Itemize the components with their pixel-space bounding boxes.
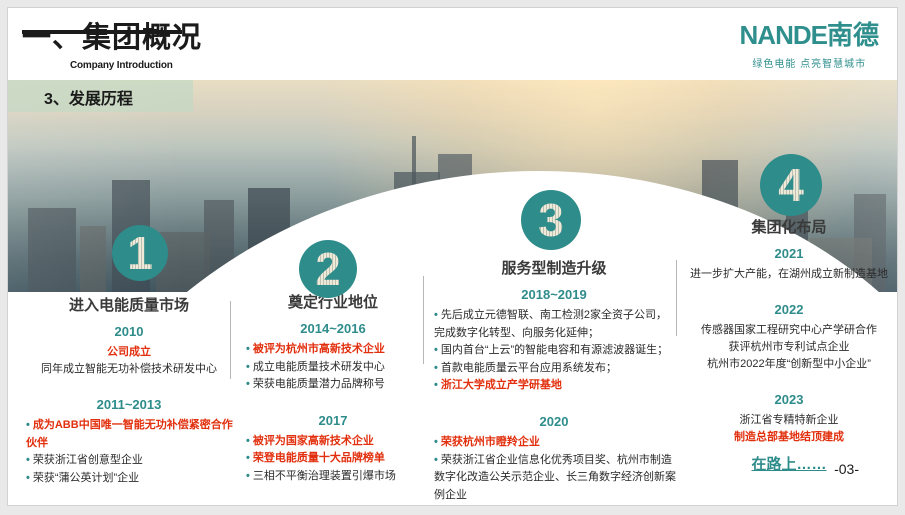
bullet-dot: • <box>434 309 438 321</box>
bullet-item: •荣获杭州市瞪羚企业 <box>432 434 676 452</box>
bullet-dot: • <box>246 361 250 373</box>
column-divider-1 <box>230 301 231 379</box>
bullet-item: •荣登电能质量十大品牌榜单 <box>244 450 422 468</box>
year-label: 2021 <box>684 246 894 261</box>
slide-header: 一、集团概况 Company Introduction NANDE南德 绿色电能… <box>8 8 897 80</box>
column-footer: 在路上…… <box>684 453 894 474</box>
year-label: 2014~2016 <box>244 321 422 336</box>
year-label: 2011~2013 <box>24 397 234 412</box>
text-line: 浙江省专精特新企业 <box>684 412 894 429</box>
timeline-badge-1: 1 <box>112 225 168 281</box>
bullet-dot: • <box>246 378 250 390</box>
badge-number: 4 <box>778 162 804 208</box>
bullet-item: •荣获浙江省创意型企业 <box>24 452 234 470</box>
bullet-dot: • <box>434 454 438 466</box>
block-spacer <box>684 373 894 384</box>
bullet-item: •被评为国家高新技术企业 <box>244 433 422 451</box>
logo-latin: NANDE <box>740 20 827 50</box>
bullet-item: •被评为杭州市高新技术企业 <box>244 341 422 359</box>
bullet-dot: • <box>246 470 250 482</box>
block-spacer <box>244 394 422 405</box>
timeline-column-3: 服务型制造升级2018~2019•先后成立元德智联、南工检测2家全资子公司，完成… <box>432 257 676 504</box>
year-label: 2023 <box>684 392 894 407</box>
timeline-badge-4: 4 <box>760 154 822 216</box>
bullet-dot: • <box>434 362 438 374</box>
bullet-dot: • <box>26 419 30 431</box>
text-line: 获评杭州市专利试点企业 <box>684 339 894 356</box>
bullet-item: •国内首台“上云”的智能电容和有源滤波器诞生； <box>432 342 676 360</box>
bullet-item: •浙江大学成立产学研基地 <box>432 377 676 395</box>
bullet-item: •成为ABB中国唯一智能无功补偿紧密合作伙伴 <box>24 417 234 452</box>
bullet-item: •荣获浙江省企业信息化优秀项目奖、杭州市制造数字化改造公关示范企业、长三角数字经… <box>432 452 676 505</box>
column-divider-3 <box>676 260 677 336</box>
block-spacer <box>24 378 234 389</box>
brand-logo: NANDE南德 绿色电能 点亮智慧城市 <box>740 22 879 70</box>
year-label: 2017 <box>244 413 422 428</box>
timeline-column-2: 奠定行业地位2014~2016•被评为杭州市高新技术企业•成立电能质量技术研发中… <box>244 291 422 486</box>
page-title: 一、集团概况 <box>22 24 202 53</box>
badge-number: 2 <box>315 246 341 292</box>
column-heading: 进入电能质量市场 <box>24 294 234 315</box>
slide-canvas: 一、集团概况 Company Introduction NANDE南德 绿色电能… <box>8 8 897 505</box>
bullet-item: •荣获电能质量潜力品牌称号 <box>244 376 422 394</box>
text-line: 公司成立 <box>24 344 234 361</box>
text-line: 进一步扩大产能，在湖州成立新制造基地 <box>684 266 894 283</box>
page-subtitle: Company Introduction <box>70 60 173 71</box>
text-line: 传感器国家工程研究中心产学研合作 <box>684 322 894 339</box>
bullet-dot: • <box>246 343 250 355</box>
block-spacer <box>432 395 676 406</box>
bullet-dot: • <box>434 379 438 391</box>
badge-number: 1 <box>127 230 153 276</box>
bullet-item: •三相不平衡治理装置引爆市场 <box>244 468 422 486</box>
bullet-item: •先后成立元德智联、南工检测2家全资子公司，完成数字化转型、向服务化延伸； <box>432 307 676 342</box>
bullet-dot: • <box>26 454 30 466</box>
text-line: 同年成立智能无功补偿技术研发中心 <box>24 361 234 378</box>
year-label: 2018~2019 <box>432 287 676 302</box>
logo-chinese: 南德 <box>827 20 879 50</box>
section-tab: 3、发展历程 <box>8 78 193 112</box>
timeline-badge-3: 3 <box>521 190 581 250</box>
column-heading: 服务型制造升级 <box>432 257 676 278</box>
timeline-badge-2: 2 <box>299 240 357 298</box>
column-heading: 集团化布局 <box>684 216 894 237</box>
badge-number: 3 <box>538 197 564 243</box>
timeline-column-1: 进入电能质量市场2010公司成立同年成立智能无功补偿技术研发中心2011~201… <box>24 294 234 487</box>
year-label: 2020 <box>432 414 676 429</box>
block-spacer <box>684 283 894 294</box>
text-line: 制造总部基地结顶建成 <box>684 429 894 446</box>
bullet-item: •成立电能质量技术研发中心 <box>244 359 422 377</box>
bullet-item: •荣获“蒲公英计划”企业 <box>24 470 234 488</box>
column-divider-2 <box>423 276 424 364</box>
page-number: -03- <box>834 461 859 477</box>
bullet-dot: • <box>434 344 438 356</box>
year-label: 2022 <box>684 302 894 317</box>
bullet-dot: • <box>246 452 250 464</box>
logo-wordmark: NANDE南德 <box>740 22 879 48</box>
section-tab-label: 3、发展历程 <box>44 85 133 109</box>
bullet-item: •首款电能质量云平台应用系统发布； <box>432 360 676 378</box>
text-line: 杭州市2022年度“创新型中小企业” <box>684 356 894 373</box>
bullet-dot: • <box>26 472 30 484</box>
bullet-dot: • <box>434 436 438 448</box>
timeline-column-4: 集团化布局2021进一步扩大产能，在湖州成立新制造基地2022传感器国家工程研究… <box>684 216 894 474</box>
logo-tagline: 绿色电能 点亮智慧城市 <box>740 55 879 70</box>
bullet-dot: • <box>246 435 250 447</box>
year-label: 2010 <box>24 324 234 339</box>
